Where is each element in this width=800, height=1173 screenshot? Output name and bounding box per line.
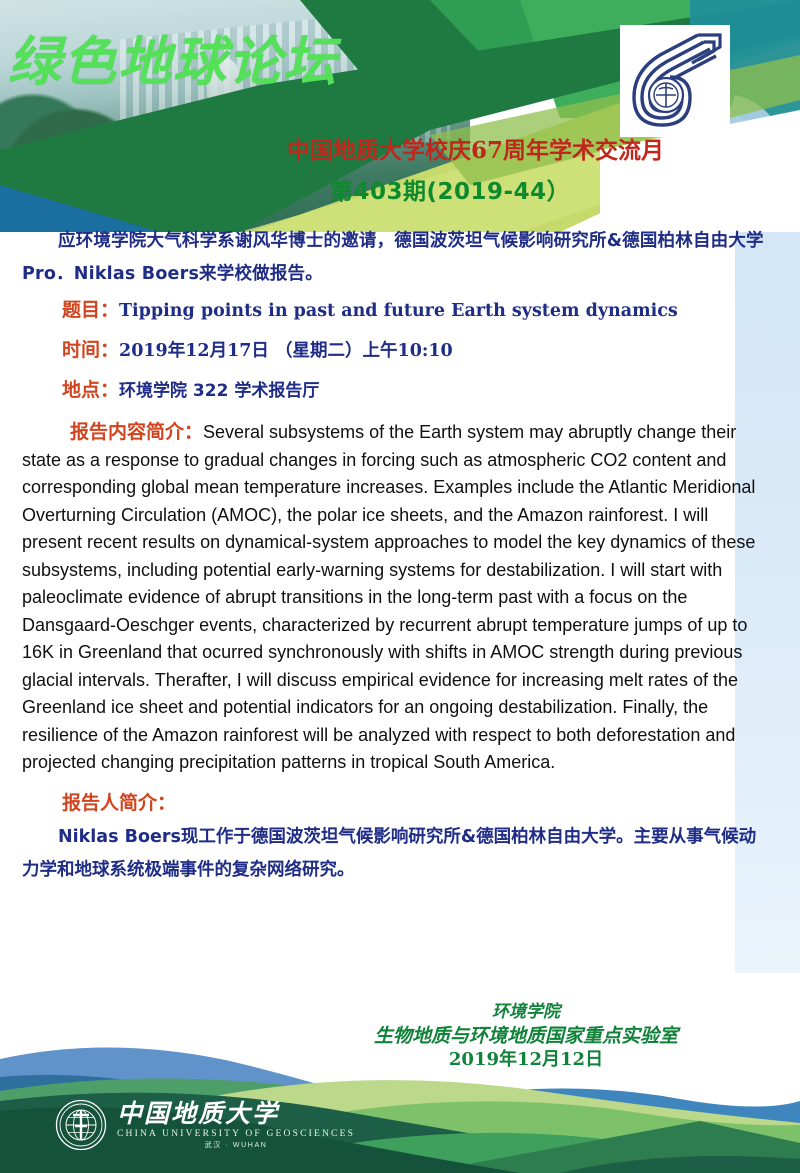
poster-header: 绿色地球论坛 中国地质大学校庆67周年学术交流月 第403期(2 bbox=[0, 0, 800, 232]
detail-row-topic: 题目：Tipping points in past and future Ear… bbox=[62, 291, 800, 331]
time-label: 时间： bbox=[62, 339, 119, 361]
detail-row-time: 时间：2019年12月17日 （星期二）上午10:10 bbox=[62, 331, 800, 371]
detail-row-location: 地点：环境学院 322 学术报告厅 bbox=[62, 371, 800, 411]
anniversary-title: 中国地质大学校庆67周年学术交流月 bbox=[287, 131, 664, 165]
signature-school: 环境学院 bbox=[374, 1000, 678, 1024]
issue-number: 第403期(2019-44） bbox=[330, 172, 570, 206]
cug-seal-icon bbox=[55, 1099, 107, 1151]
university-logo: 中国地质大学 CHINA UNIVERSITY OF GEOSCIENCES 武… bbox=[55, 1099, 355, 1151]
abstract-label: 报告内容简介： bbox=[70, 421, 203, 443]
logo-chinese-name: 中国地质大学 bbox=[117, 1100, 355, 1128]
speaker-bio-label: 报告人简介： bbox=[62, 787, 800, 819]
logo-text-block: 中国地质大学 CHINA UNIVERSITY OF GEOSCIENCES 武… bbox=[117, 1100, 355, 1151]
poster-root: 绿色地球论坛 中国地质大学校庆67周年学术交流月 第403期(2 bbox=[0, 0, 800, 1173]
topic-value: Tipping points in past and future Earth … bbox=[119, 301, 678, 321]
location-value: 环境学院 322 学术报告厅 bbox=[119, 381, 319, 401]
invitation-paragraph: 应环境学院大气科学系谢风华博士的邀请，德国波茨坦气候影响研究所&德国柏林自由大学… bbox=[22, 225, 772, 291]
logo-city: 武汉 · WUHAN bbox=[117, 1141, 355, 1151]
time-value: 2019年12月17日 （星期二）上午10:10 bbox=[119, 341, 453, 361]
abstract-paragraph: 报告内容简介：Several subsystems of the Earth s… bbox=[22, 419, 770, 777]
signature-date: 2019年12月12日 bbox=[374, 1048, 678, 1072]
abstract-text: Several subsystems of the Earth system m… bbox=[22, 422, 755, 772]
poster-body: 应环境学院大气科学系谢风华博士的邀请，德国波茨坦气候影响研究所&德国柏林自由大学… bbox=[0, 225, 800, 887]
anniversary-67-logo bbox=[620, 25, 730, 137]
speaker-bio-text: Niklas Boers现工作于德国波茨坦气候影响研究所&德国柏林自由大学。主要… bbox=[22, 821, 772, 887]
logo-english-name: CHINA UNIVERSITY OF GEOSCIENCES bbox=[117, 1128, 355, 1141]
signature-lab: 生物地质与环境地质国家重点实验室 bbox=[374, 1024, 678, 1048]
topic-label: 题目： bbox=[62, 299, 119, 321]
signature-block: 环境学院 生物地质与环境地质国家重点实验室 2019年12月12日 bbox=[374, 1000, 678, 1072]
location-label: 地点： bbox=[62, 379, 119, 401]
forum-title: 绿色地球论坛 bbox=[8, 20, 338, 96]
